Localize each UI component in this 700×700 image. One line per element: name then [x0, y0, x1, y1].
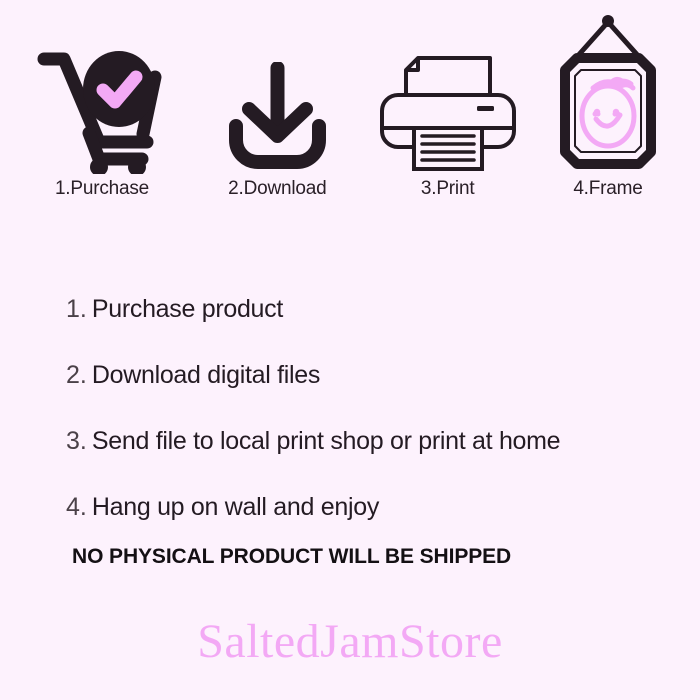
list-item-text: Hang up on wall and enjoy — [92, 493, 379, 522]
step-download: 2.Download — [197, 0, 357, 200]
step-frame-art — [553, 14, 663, 174]
list-item: 3. Send file to local print shop or prin… — [66, 408, 676, 474]
list-item: 4. Hang up on wall and enjoy — [66, 474, 676, 540]
step-print-label: 3.Print — [421, 178, 475, 200]
steps-row: 1.Purchase 2.Download — [0, 0, 700, 200]
step-download-label: 2.Download — [228, 178, 326, 200]
step-frame: 4.Frame — [538, 0, 678, 200]
hanging-picture-frame-icon — [553, 14, 663, 174]
instruction-list: 1. Purchase product 2. Download digital … — [66, 276, 676, 540]
step-purchase-art — [37, 14, 167, 174]
step-print-art — [378, 14, 518, 174]
list-item: 2. Download digital files — [66, 342, 676, 408]
shopping-cart-check-icon — [37, 49, 167, 174]
printer-output-paper — [414, 128, 482, 169]
list-item-text: Download digital files — [92, 361, 320, 390]
store-signature: SaltedJamStore — [0, 614, 700, 669]
list-item-text: Purchase product — [92, 295, 283, 324]
step-download-art — [225, 14, 330, 174]
download-arrow-tray-icon — [225, 62, 330, 174]
doodle-eye-right — [613, 109, 619, 115]
list-item-number: 1. — [66, 295, 87, 324]
step-purchase: 1.Purchase — [22, 0, 182, 200]
step-purchase-label: 1.Purchase — [55, 178, 149, 200]
list-item-number: 4. — [66, 493, 87, 522]
step-frame-label: 4.Frame — [573, 178, 642, 200]
step-print: 3.Print — [373, 0, 523, 200]
list-item-text: Send file to local print shop or print a… — [92, 427, 560, 456]
disclaimer-text: NO PHYSICAL PRODUCT WILL BE SHIPPED — [72, 545, 511, 569]
list-item: 1. Purchase product — [66, 276, 676, 342]
list-item-number: 2. — [66, 361, 87, 390]
printer-icon — [378, 52, 518, 174]
list-item-number: 3. — [66, 427, 87, 456]
doodle-eye-left — [594, 109, 600, 115]
printer-indicator-slot — [477, 106, 494, 111]
listing-instructions-graphic: 1.Purchase 2.Download — [0, 0, 700, 700]
